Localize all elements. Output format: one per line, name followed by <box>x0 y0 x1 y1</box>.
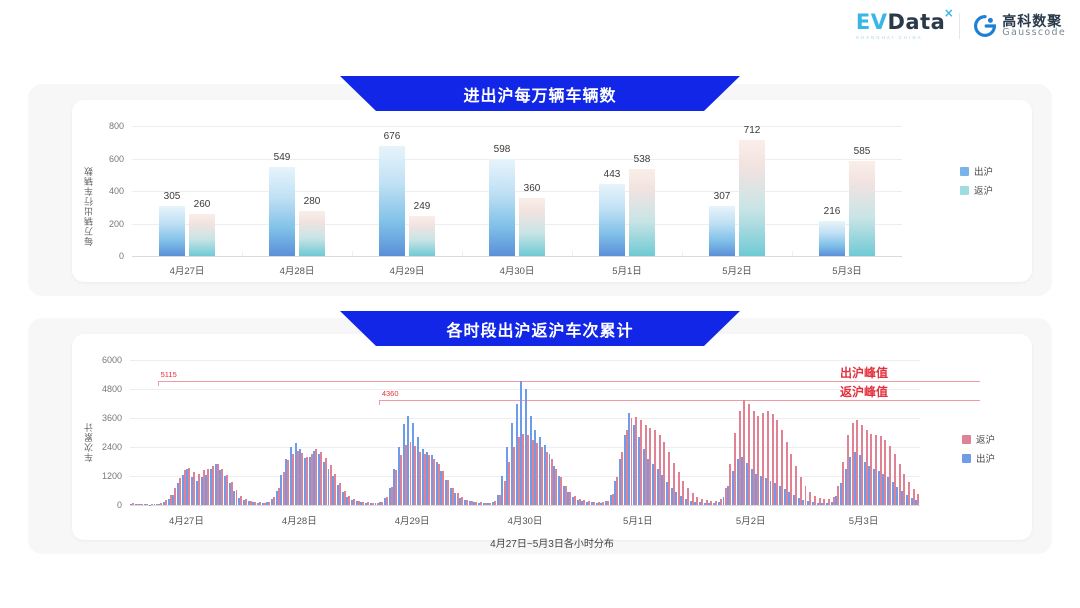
chart2-bar-ret <box>522 434 524 505</box>
chart1-bar-value: 443 <box>604 169 621 180</box>
chart2-bar-ret <box>410 442 412 505</box>
chart1-bar-value: 585 <box>854 146 871 157</box>
chart2-bar-out <box>257 503 259 505</box>
chart2-bar-out <box>219 470 221 505</box>
chart1-bar-value: 538 <box>634 154 651 165</box>
chart2-bar-out <box>313 451 315 505</box>
chart2-bar-out <box>577 500 579 505</box>
chart2-bar-ret <box>518 437 520 505</box>
chart1-y-tick: 400 <box>90 186 124 196</box>
chart1-bar-value: 260 <box>194 199 211 210</box>
chart2-bar-out <box>694 502 696 505</box>
chart2-bar-out <box>831 502 833 505</box>
chart2-peak-label: 返沪峰值 <box>840 383 888 400</box>
chart1-legend: 出沪返沪 <box>960 164 993 197</box>
chart2-y-tick: 4800 <box>88 384 122 394</box>
chart2-bar-out <box>643 449 645 505</box>
chart2-bar-out <box>360 502 362 505</box>
chart2-bar-ret <box>551 459 553 505</box>
chart2-legend: 返沪出沪 <box>962 432 995 465</box>
gausscode-cn-label: 高科数聚 <box>1002 14 1066 29</box>
chart2-bar-out <box>323 462 325 506</box>
chart2-bar-ret <box>499 495 501 505</box>
chart2-bar-out <box>798 498 800 505</box>
chart1-x-separator <box>682 251 683 256</box>
chart2-bar-out <box>760 476 762 505</box>
chart1-bar-value: 249 <box>414 201 431 212</box>
chart2-bar-out <box>868 466 870 505</box>
legend-swatch-icon <box>962 435 971 444</box>
chart2-bar-out <box>699 502 701 505</box>
chart2-y-axis-label: 车次累计 <box>82 402 95 462</box>
chart1-gridline <box>132 191 902 192</box>
chart2-bar-ret <box>297 451 299 505</box>
chart2-bar-out <box>586 502 588 505</box>
chart1-legend-label: 返沪 <box>974 183 993 197</box>
chart2-bar-out <box>680 496 682 505</box>
chart1-gridline <box>132 126 902 127</box>
chart2-bar-out <box>440 471 442 505</box>
chart2-bar-out <box>356 501 358 505</box>
chart2-bar-out <box>713 503 715 505</box>
chart2-bar-out <box>248 501 250 505</box>
chart2-bar-out <box>600 503 602 505</box>
chart1-bar-value: 280 <box>304 196 321 207</box>
chart2-bar-out <box>638 437 640 505</box>
chart2-bar-out <box>864 462 866 506</box>
evdata-ev-text: EV <box>856 10 888 34</box>
chart1-bar <box>519 198 545 257</box>
chart1-legend-item[interactable]: 返沪 <box>960 183 993 197</box>
chart2-bar-out <box>793 495 795 505</box>
chart2-bar-out <box>478 503 480 505</box>
chart2-bar-out <box>276 491 278 506</box>
chart2-bar-out <box>168 499 170 505</box>
chart1-bar <box>489 159 515 256</box>
chart2-bar-out <box>233 491 235 505</box>
chart1-bar <box>599 184 625 256</box>
chart2-y-tick: 6000 <box>88 355 122 365</box>
chart2-y-tick: 1200 <box>88 471 122 481</box>
chart2-bar-out <box>854 452 856 505</box>
chart1-gridline <box>132 159 902 160</box>
chart2-bar-out <box>205 475 207 505</box>
chart2-bar-out <box>633 425 635 505</box>
chart1-bar-value: 216 <box>824 206 841 217</box>
chart2-bar-out <box>473 502 475 505</box>
chart2-bar-out <box>835 496 837 505</box>
chart2-bar-out <box>727 486 729 505</box>
chart2-bar-ret <box>405 445 407 505</box>
evdata-wordmark: EVData × <box>856 12 945 33</box>
chart1-legend-label: 出沪 <box>974 164 993 178</box>
chart1-title-banner: 进出沪每万辆车辆数 <box>340 76 740 111</box>
chart2-bar-out <box>671 488 673 505</box>
chart2-bar-out <box>342 492 344 505</box>
chart2-bar-out <box>567 492 569 505</box>
chart2-bar-out <box>873 469 875 505</box>
chart2-bar-out <box>135 504 137 505</box>
chart2-bar-out <box>661 475 663 505</box>
chart2-bar-out <box>826 503 828 505</box>
chart2-bar-out <box>210 469 212 505</box>
chart2-bar-out <box>882 474 884 505</box>
legend-swatch-icon <box>962 454 971 463</box>
chart2-bar-out <box>262 503 264 505</box>
chart2-bar-ret <box>395 470 397 505</box>
chart2-bar-out <box>732 471 734 505</box>
chart1-bar-value: 307 <box>714 191 731 202</box>
chart2-bar-out <box>788 492 790 505</box>
chart1-x-tick: 5月3日 <box>832 263 862 277</box>
chart2-legend-item[interactable]: 返沪 <box>962 432 995 446</box>
chart2-bar-out <box>657 469 659 505</box>
chart2-bar-out <box>469 501 471 505</box>
chart1-gridline <box>132 224 902 225</box>
chart1-card: 02004006008003052604月27日5492804月28日67624… <box>72 100 1032 282</box>
chart2-bar-out <box>266 502 268 505</box>
chart2-bar-out <box>384 498 386 505</box>
chart2-title-banner: 各时段出沪返沪车次累计 <box>340 311 740 346</box>
chart2-plot-area: 0120024003600480060004月27日4月28日4月29日4月30… <box>130 360 920 505</box>
chart2-bar-ret <box>513 447 515 505</box>
chart2-bar-out <box>614 481 616 505</box>
chart1-title: 进出沪每万辆车辆数 <box>463 82 616 106</box>
chart1-x-separator <box>792 251 793 256</box>
chart1-bar <box>409 216 435 256</box>
chart2-x-tick: 4月29日 <box>395 513 430 527</box>
chart1-y-tick: 200 <box>90 219 124 229</box>
chart2-bar-out <box>812 502 814 505</box>
chart2-bar-out <box>370 503 372 505</box>
chart2-bar-out <box>172 495 174 505</box>
chart2-bar-ret <box>917 494 919 505</box>
chart1-bar-value: 598 <box>494 144 511 155</box>
chart2-bar-ret <box>555 469 557 505</box>
chart2-bar-out <box>704 503 706 505</box>
chart2-bar-out <box>191 477 193 505</box>
chart2-bar-out <box>379 502 381 505</box>
chart2-peak-label: 出沪峰值 <box>840 364 888 381</box>
chart2-bar-out <box>821 503 823 505</box>
chart2-bar-out <box>708 503 710 505</box>
chart2-bar-out <box>492 502 494 505</box>
chart2-bar-out <box>487 503 489 505</box>
chart2-bar-out <box>215 464 217 505</box>
chart2-bar-out <box>784 489 786 505</box>
chart2-bar-out <box>182 475 184 505</box>
chart2-bar-ret <box>532 440 534 505</box>
chart1-x-separator <box>572 251 573 256</box>
chart2-bar-out <box>723 497 725 505</box>
chart2-bar-out <box>304 458 306 505</box>
chart2-bar-out <box>224 476 226 505</box>
chart2-bar-out <box>252 502 254 505</box>
chart1-gridline <box>132 256 902 257</box>
gausscode-text: 高科数聚 Gausscode <box>1002 14 1066 39</box>
chart2-bar-out <box>901 491 903 505</box>
chart2-bar-out <box>718 502 720 505</box>
chart1-bar <box>709 206 735 256</box>
chart2-bar-ret <box>287 460 289 505</box>
chart2-bar-out <box>389 488 391 505</box>
chart1-y-tick: 600 <box>90 154 124 164</box>
chart2-y-tick: 0 <box>88 500 122 510</box>
chart2-bar-out <box>751 469 753 505</box>
chart2-legend-item[interactable]: 出沪 <box>962 451 995 465</box>
gausscode-mark-icon <box>974 15 996 37</box>
chart2-bar-out <box>201 477 203 505</box>
chart2-bar-out <box>774 483 776 505</box>
chart1-x-separator <box>462 251 463 256</box>
chart1-y-axis-label: 每万辆出行车辆数 <box>82 146 95 246</box>
chart2-bar-out <box>755 474 757 505</box>
chart2-bar-out <box>605 501 607 505</box>
chart2-bar-out <box>483 503 485 505</box>
chart1-y-tick: 800 <box>90 121 124 131</box>
chart2-bar-out <box>911 498 913 505</box>
chart2-bar-out <box>238 498 240 505</box>
chart2-bar-ret <box>433 459 435 505</box>
chart2-legend-label: 出沪 <box>976 451 995 465</box>
chart2-bar-out <box>624 435 626 505</box>
chart2-panel: 0120024003600480060004月27日4月28日4月29日4月30… <box>28 318 1052 554</box>
chart2-bar-out <box>802 500 804 505</box>
chart2-bar-out <box>139 504 141 505</box>
chart2-bar-out <box>154 504 156 505</box>
chart2-bar-out <box>859 455 861 505</box>
chart2-bar-ret <box>527 435 529 505</box>
chart2-card: 0120024003600480060004月27日4月28日4月29日4月30… <box>72 334 1032 540</box>
chart2-peak-tick <box>158 381 159 386</box>
chart2-bar-out <box>158 504 160 505</box>
chart2-bar-out <box>464 500 466 505</box>
chart1-bar <box>269 167 295 256</box>
chart2-bar-out <box>328 469 330 505</box>
chart2-legend-label: 返沪 <box>976 432 995 446</box>
chart2-bar-out <box>817 503 819 505</box>
chart2-bar-out <box>685 499 687 505</box>
chart2-bar-out <box>807 501 809 505</box>
chart2-bar-out <box>280 475 282 505</box>
logo-divider <box>959 13 960 39</box>
chart2-bar-out <box>346 497 348 505</box>
chart2-bar-out <box>906 495 908 505</box>
legend-swatch-icon <box>960 167 969 176</box>
chart2-bar-ret <box>546 452 548 505</box>
chart2-bar-out <box>445 480 447 505</box>
chart2-bar-out <box>770 481 772 505</box>
chart2-bar-out <box>652 464 654 505</box>
chart2-bar-ret <box>541 447 543 505</box>
chart1-bar <box>629 169 655 256</box>
chart2-bar-out <box>741 457 743 505</box>
chart2-bar-out <box>610 495 612 505</box>
chart1-plot-area: 02004006008003052604月27日5492804月28日67624… <box>132 126 902 256</box>
evdata-data-text: Data <box>887 10 945 34</box>
chart2-bar-out <box>351 500 353 505</box>
chart1-x-tick: 4月29日 <box>390 263 425 277</box>
chart1-bar <box>299 211 325 257</box>
chart2-bar-ret <box>536 443 538 505</box>
chart1-y-tick: 0 <box>90 251 124 261</box>
chart2-bar-out <box>572 497 574 505</box>
chart1-bar-value: 360 <box>524 183 541 194</box>
chart1-bar <box>819 221 845 256</box>
chart2-bar-out <box>563 486 565 505</box>
chart2-bar-out <box>591 502 593 505</box>
chart2-bar-out <box>186 469 188 505</box>
chart2-x-tick: 4月27日 <box>169 513 204 527</box>
chart1-bar <box>189 214 215 256</box>
chart2-bar-out <box>746 463 748 505</box>
chart2-bar-ret <box>508 462 510 506</box>
chart1-bar-value: 712 <box>744 125 761 136</box>
chart2-bar-out <box>596 503 598 505</box>
chart1-bar <box>739 140 765 256</box>
chart2-bar-out <box>177 483 179 505</box>
chart2-bar-out <box>144 504 146 505</box>
chart2-x-tick: 5月1日 <box>623 513 653 527</box>
chart1-x-separator <box>242 251 243 256</box>
chart2-bar-ret <box>414 446 416 505</box>
chart2-peak-value: 4360 <box>382 389 399 398</box>
evdata-logo: EVData × SHANGHAI CHINA <box>856 12 945 40</box>
chart2-bar-out <box>318 454 320 505</box>
chart2-peak-value: 5115 <box>161 370 177 379</box>
chart1-bar-value: 676 <box>384 131 401 142</box>
chart2-bar-out <box>892 482 894 505</box>
chart2-title: 各时段出沪返沪车次累计 <box>446 317 633 341</box>
chart2-bar-out <box>915 500 917 505</box>
chart2-bar-out <box>887 477 889 505</box>
chart2-bar-out <box>337 485 339 505</box>
chart2-bar-out <box>196 481 198 505</box>
chart2-x-tick: 4月30日 <box>508 513 543 527</box>
chart2-bar-out <box>737 459 739 505</box>
chart1-x-tick: 4月28日 <box>280 263 315 277</box>
chart2-bar-out <box>845 469 847 505</box>
chart1-bar-value: 305 <box>164 191 181 202</box>
chart2-bar-out <box>647 459 649 505</box>
legend-swatch-icon <box>960 186 969 195</box>
chart1-x-separator <box>352 251 353 256</box>
chart2-bar-out <box>878 471 880 505</box>
chart2-bar-out <box>675 492 677 505</box>
brand-logo-bar: EVData × SHANGHAI CHINA 高科数聚 Gausscode <box>856 12 1066 40</box>
chart2-bar-out <box>666 482 668 505</box>
chart2-bar-out <box>459 498 461 505</box>
chart2-bar-out <box>375 503 377 505</box>
chart2-bar-out <box>690 501 692 505</box>
chart2-bar-ret <box>400 455 402 505</box>
chart2-bar-out <box>581 501 583 505</box>
chart2-bar-ret <box>428 455 430 505</box>
chart2-bar-ret <box>504 481 506 505</box>
chart1-bar <box>849 161 875 256</box>
chart2-x-tick: 4月28日 <box>282 513 317 527</box>
chart2-bar-out <box>229 483 231 505</box>
chart2-bar-out <box>243 500 245 505</box>
gausscode-logo: 高科数聚 Gausscode <box>974 14 1066 39</box>
chart2-bar-out <box>271 499 273 505</box>
chart1-panel: 02004006008003052604月27日5492804月28日67624… <box>28 84 1052 296</box>
chart2-bar-out <box>779 486 781 505</box>
chart2-bar-ret <box>292 454 294 505</box>
chart2-bar-out <box>163 502 165 505</box>
chart2-x-tick: 5月3日 <box>849 513 879 527</box>
chart1-bar-value: 549 <box>274 152 291 163</box>
chart2-x-axis-caption: 4月27日~5月3日各小时分布 <box>72 535 1032 550</box>
chart2-bar-out <box>619 459 621 505</box>
evdata-subtitle: SHANGHAI CHINA <box>856 35 923 40</box>
chart2-bar-out <box>365 503 367 505</box>
chart2-bar-out <box>332 476 334 505</box>
chart2-bar-out <box>454 493 456 505</box>
chart2-bar-out <box>309 457 311 505</box>
chart2-bar-out <box>130 504 132 505</box>
chart1-bar <box>159 206 185 256</box>
chart2-bar-out <box>849 457 851 505</box>
chart2-bar-ret <box>419 452 421 505</box>
page-root: EVData × SHANGHAI CHINA 高科数聚 Gausscode 0… <box>0 0 1080 608</box>
chart2-bar-out <box>765 478 767 505</box>
chart2-peak-line <box>379 400 980 401</box>
chart1-x-tick: 5月1日 <box>612 263 642 277</box>
gausscode-en-label: Gausscode <box>1002 28 1066 38</box>
chart1-x-tick: 4月30日 <box>500 263 535 277</box>
chart2-bar-ret <box>424 454 426 505</box>
chart2-bar-out <box>450 488 452 505</box>
chart2-gridline <box>130 505 920 506</box>
chart2-bar-out <box>896 487 898 505</box>
evdata-x-icon: × <box>944 7 955 19</box>
chart1-x-tick: 4月27日 <box>170 263 205 277</box>
chart1-legend-item[interactable]: 出沪 <box>960 164 993 178</box>
chart2-gridline <box>130 360 920 361</box>
chart1-bar <box>379 146 405 256</box>
chart2-bar-out <box>840 483 842 505</box>
chart2-peak-tick <box>379 400 380 405</box>
chart1-x-tick: 5月2日 <box>722 263 752 277</box>
chart2-x-tick: 5月2日 <box>736 513 766 527</box>
